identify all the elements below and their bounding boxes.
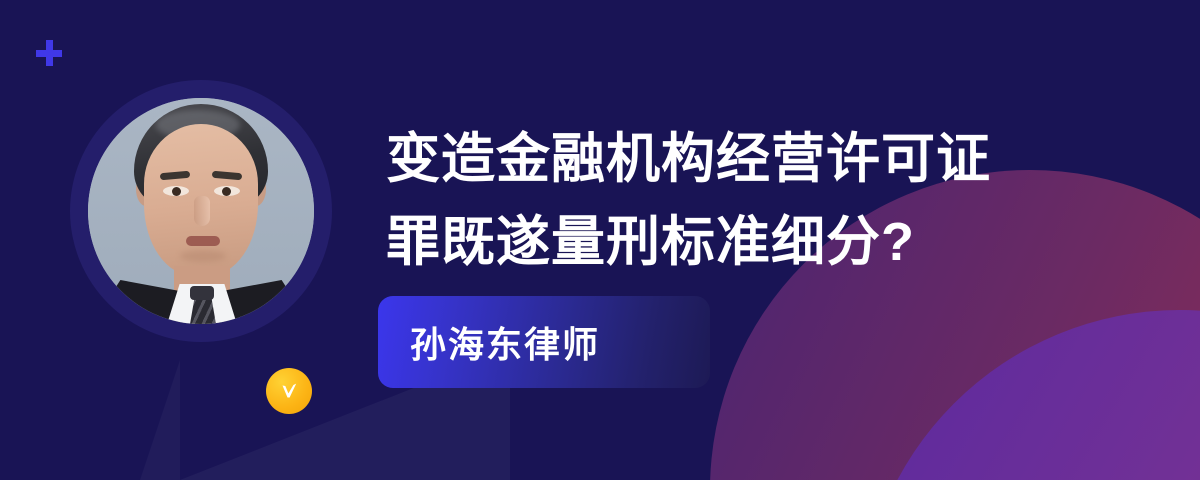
photo-pupil-right bbox=[222, 187, 231, 196]
page-title-line-2: 罪既遂量刑标准细分? bbox=[386, 201, 1086, 284]
photo-chin-shadow bbox=[180, 250, 226, 262]
photo-pupil-left bbox=[172, 187, 181, 196]
photo-necktie-knot bbox=[190, 286, 214, 300]
avatar bbox=[70, 80, 332, 342]
plus-icon-bar-horizontal bbox=[36, 50, 62, 57]
decorative-arc-inner bbox=[860, 310, 1200, 480]
verified-v-icon bbox=[266, 368, 312, 414]
plus-icon-bar-vertical bbox=[46, 40, 53, 66]
photo-nose bbox=[194, 196, 210, 226]
lawyer-question-banner: 变造金融机构经营许可证 罪既遂量刑标准细分? 孙海东律师 bbox=[0, 0, 1200, 480]
page-title: 变造金融机构经营许可证 罪既遂量刑标准细分? bbox=[386, 118, 1086, 283]
lawyer-name-badge[interactable]: 孙海东律师 bbox=[378, 296, 710, 388]
page-title-line-1: 变造金融机构经营许可证 bbox=[386, 118, 1086, 201]
decorative-wedge-secondary bbox=[140, 360, 180, 480]
plus-icon bbox=[36, 40, 62, 66]
lawyer-name-label: 孙海东律师 bbox=[378, 316, 600, 368]
avatar-photo bbox=[88, 98, 314, 324]
photo-mouth bbox=[186, 236, 220, 246]
